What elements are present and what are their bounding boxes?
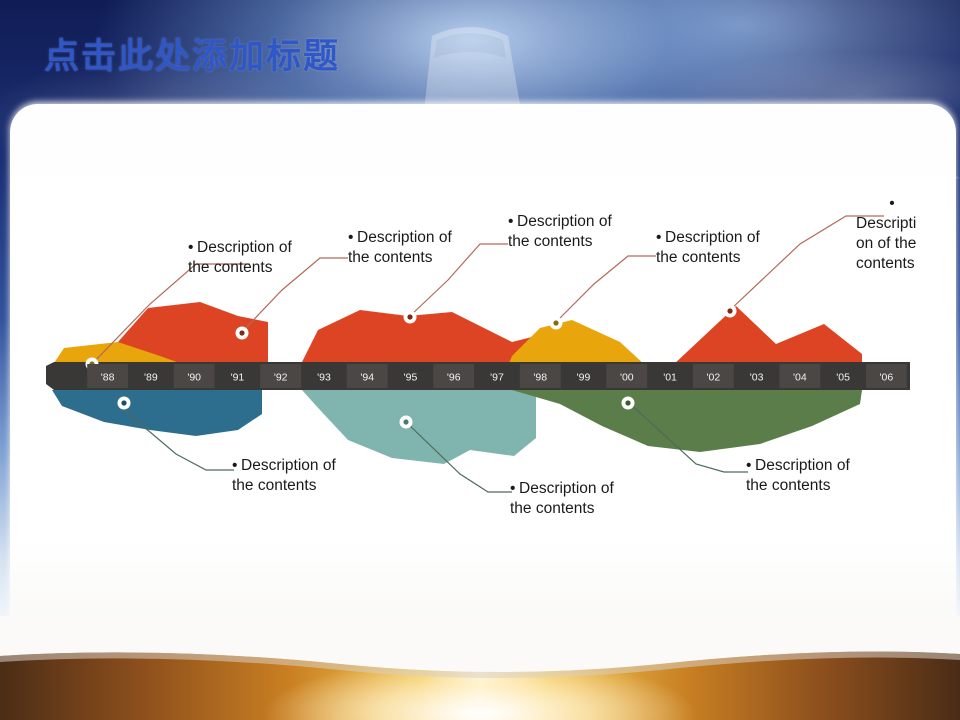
label-top-1: •Description of the contents [188, 238, 328, 278]
series-blue-lower [52, 390, 262, 436]
label-top-5: •Descripti on of the contents [856, 194, 942, 274]
year-label: '94 [360, 372, 374, 384]
bullet-icon: • [856, 194, 928, 214]
year-label: '02 [706, 372, 720, 384]
page-title: 点击此处添加标题 [44, 28, 340, 79]
bullet-icon: • [508, 212, 517, 232]
bullet-icon: • [656, 228, 665, 248]
year-label: '99 [577, 372, 591, 384]
year-label: '98 [533, 372, 547, 384]
bullet-icon: • [510, 479, 519, 499]
bullet-icon: • [746, 456, 755, 476]
year-label: '97 [490, 372, 504, 384]
marker-m6 [118, 397, 131, 410]
year-label: '06 [880, 372, 894, 384]
year-label: '05 [836, 372, 850, 384]
year-label: '88 [101, 372, 115, 384]
timeline-chart: '88'89'90'91'92'93'94'95'96'97'98'99'00'… [0, 104, 960, 664]
bullet-icon: • [348, 228, 357, 248]
bullet-icon: • [232, 456, 241, 476]
year-segment-group[interactable]: '88'89'90'91'92'93'94'95'96'97'98'99'00'… [87, 364, 907, 388]
year-label: '90 [187, 372, 201, 384]
year-label: '95 [404, 372, 418, 384]
marker-m8 [622, 397, 635, 410]
marker-m3 [404, 311, 417, 324]
year-label: '91 [231, 372, 245, 384]
year-label: '92 [274, 372, 288, 384]
year-label: '00 [620, 372, 634, 384]
label-top-2: •Description of the contents [348, 228, 488, 268]
label-bottom-3: •Description of the contents [746, 456, 896, 496]
label-bottom-2: •Description of the contents [510, 479, 660, 519]
label-bottom-1: •Description of the contents [232, 456, 382, 496]
bullet-icon: • [188, 238, 197, 258]
year-label: '03 [750, 372, 764, 384]
label-top-4: •Description of the contents [656, 228, 796, 268]
panel-bottom-curve [0, 616, 960, 720]
series-green-lower [512, 390, 862, 452]
year-label: '93 [317, 372, 331, 384]
year-label: '96 [447, 372, 461, 384]
label-top-3: •Description of the contents [508, 212, 648, 252]
year-label: '04 [793, 372, 807, 384]
marker-m7 [400, 416, 413, 429]
series-red-upper-3 [672, 306, 862, 366]
presentation-slide: 点击此处添加标题 [0, 0, 960, 720]
chart-svg: '88'89'90'91'92'93'94'95'96'97'98'99'00'… [0, 104, 960, 664]
marker-m5 [724, 305, 737, 318]
series-gold-upper-2 [508, 320, 646, 366]
marker-m2 [236, 327, 249, 340]
series-teal-lower [302, 390, 536, 464]
year-label: '89 [144, 372, 158, 384]
year-label: '01 [663, 372, 677, 384]
marker-m4 [550, 317, 563, 330]
